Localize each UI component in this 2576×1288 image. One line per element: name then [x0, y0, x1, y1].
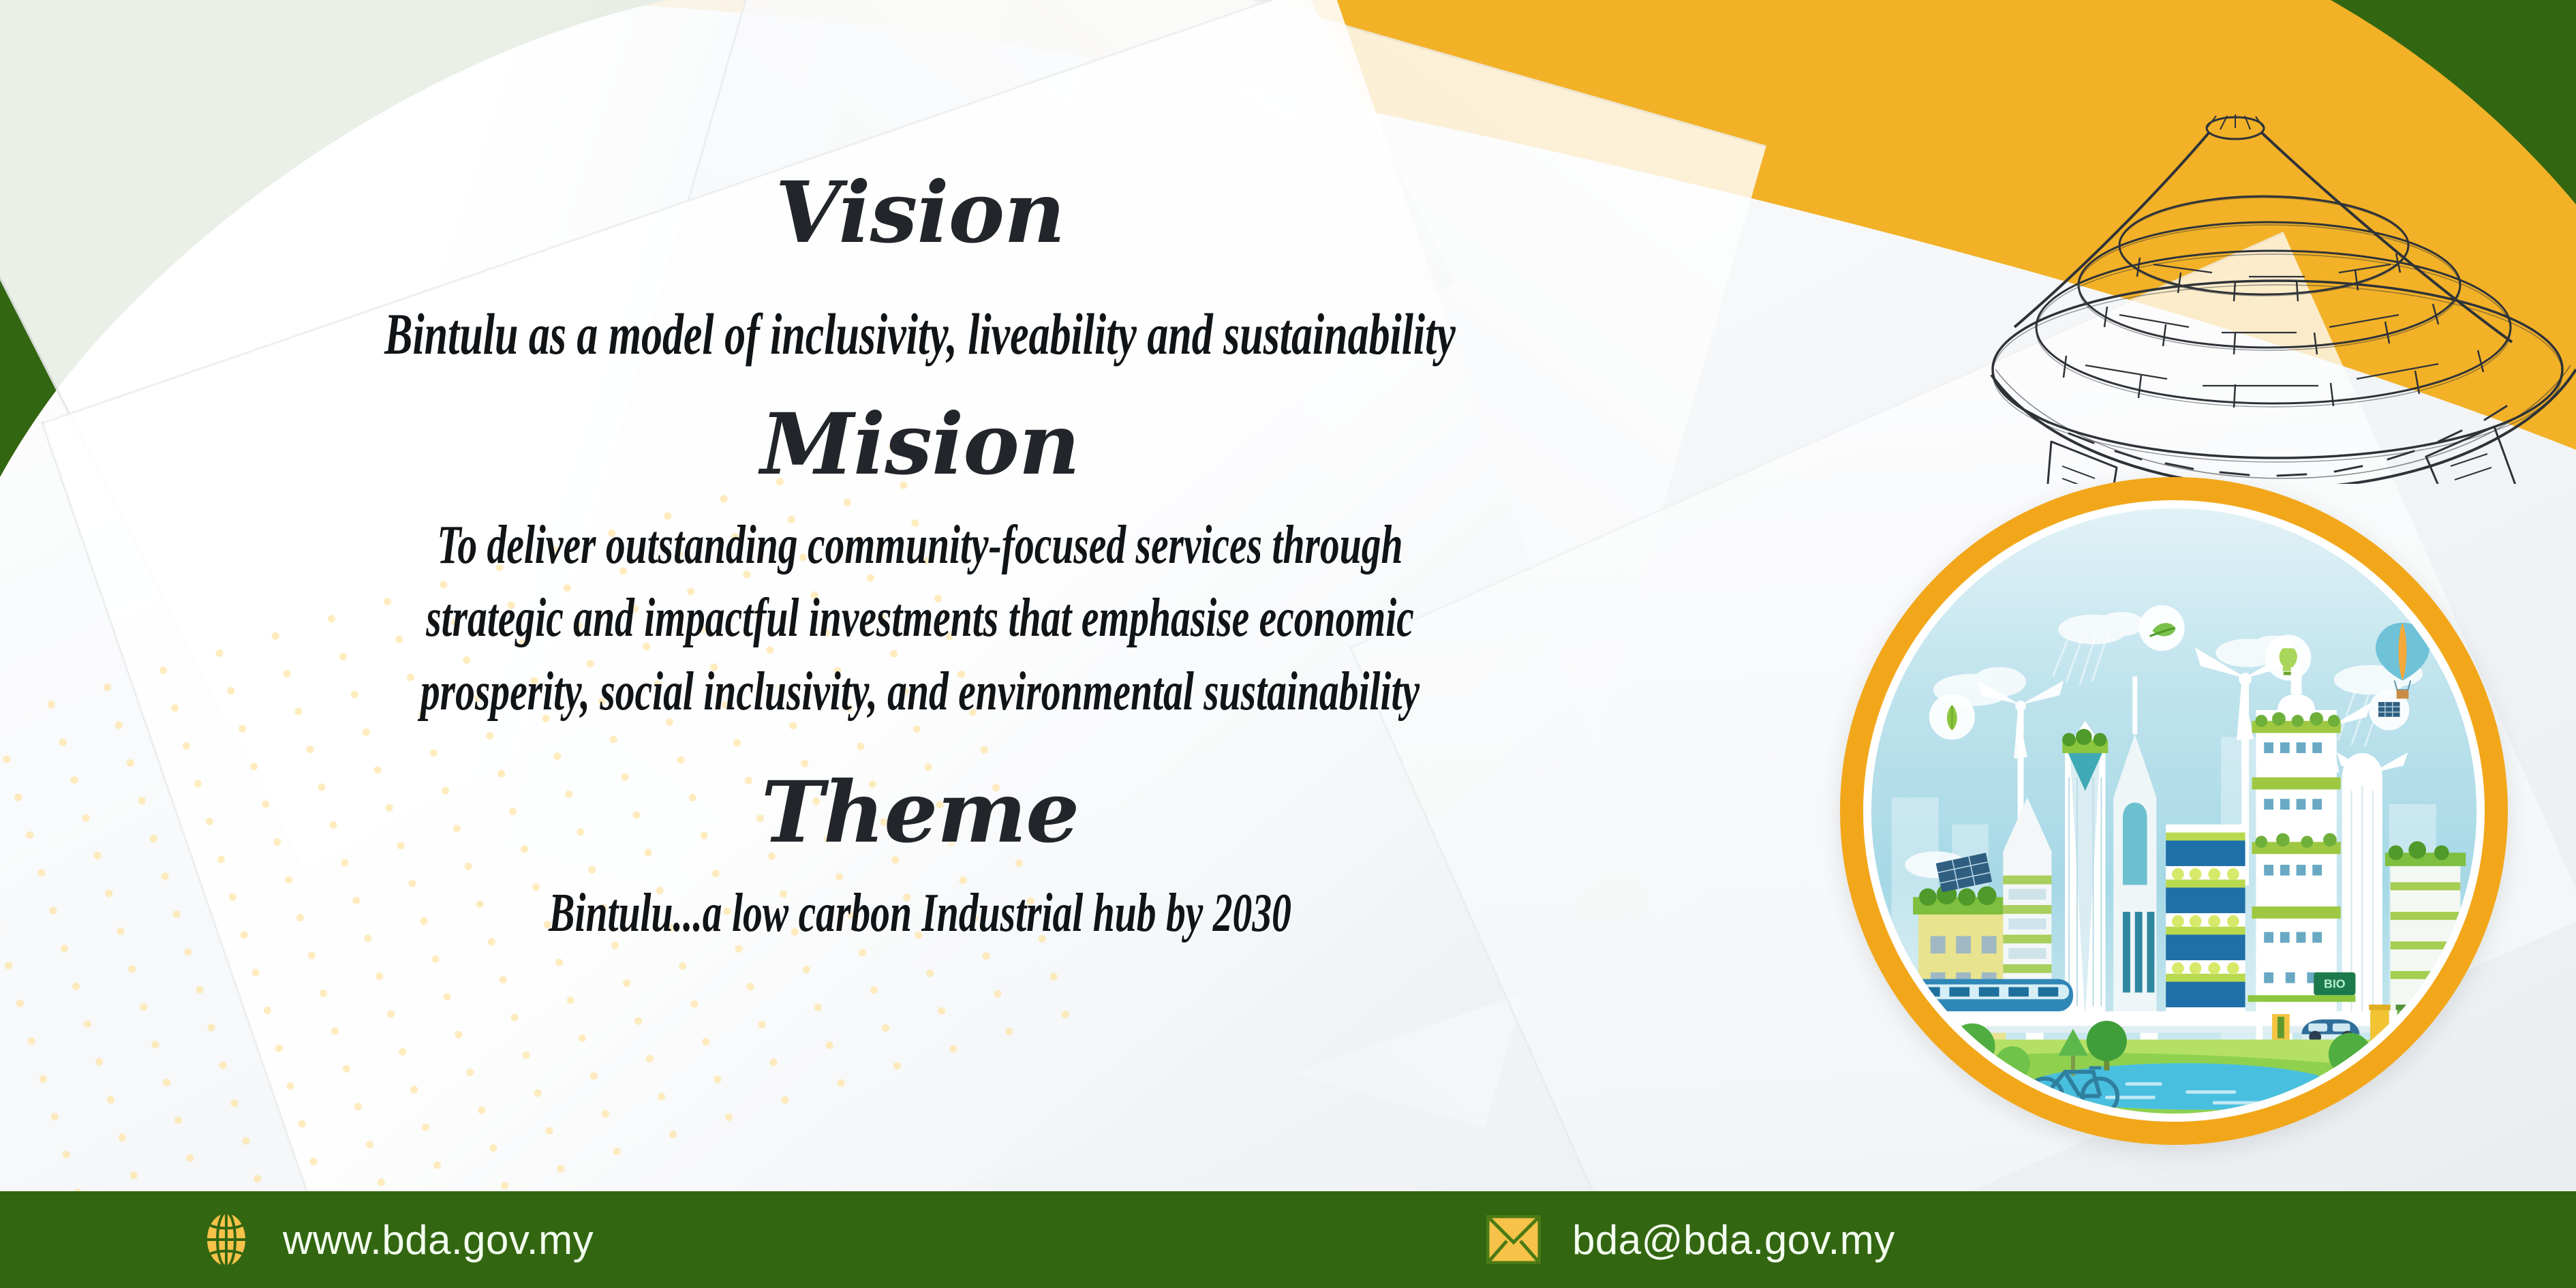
email-label[interactable]: bda@bda.gov.my — [1572, 1216, 1895, 1263]
theme-statement: Bintulu...a low carbon Industrial hub by… — [258, 883, 1582, 945]
banner: Vision Bintulu as a model of inclusivity… — [0, 0, 2576, 1288]
envelope-icon — [1486, 1215, 1541, 1264]
mission-statement-line-3: prosperity, social inclusivity, and envi… — [258, 661, 1582, 723]
footer-email[interactable]: bda@bda.gov.my — [1486, 1215, 1895, 1264]
green-city-illustration: BIO — [1871, 508, 2477, 1114]
mission-statement-line-1: To deliver outstanding community-focused… — [258, 515, 1582, 577]
medallion-image: BIO — [1871, 508, 2477, 1114]
vision-statement: Bintulu as a model of inclusivity, livea… — [258, 300, 1582, 368]
theme-heading: Theme — [0, 763, 1840, 862]
mission-heading: Mision — [0, 395, 1840, 494]
dome-building-illustration — [1949, 102, 2576, 484]
website-label[interactable]: www.bda.gov.my — [283, 1216, 594, 1263]
vision-heading: Vision — [0, 164, 1840, 262]
eco-city-medallion: BIO — [1840, 477, 2508, 1145]
footer-website[interactable]: www.bda.gov.my — [201, 1210, 594, 1269]
svg-text:BIO: BIO — [2324, 977, 2346, 990]
footer-bar: www.bda.gov.my bda@bda.gov.my — [0, 1191, 2576, 1288]
mission-statement-line-2: strategic and impactful investments that… — [258, 587, 1582, 649]
globe-icon — [201, 1210, 251, 1269]
